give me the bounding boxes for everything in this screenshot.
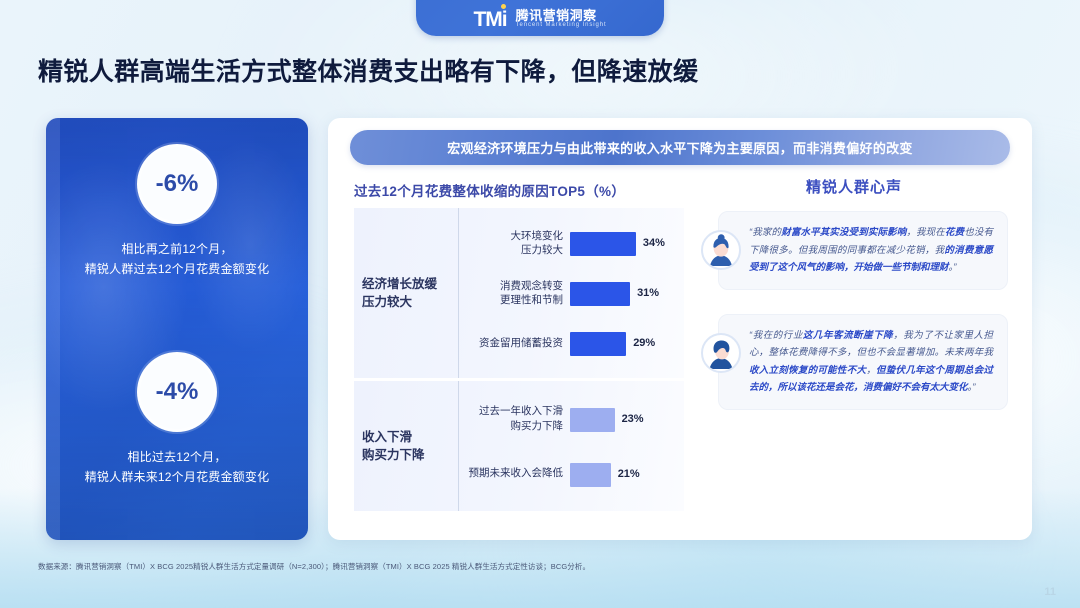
slide-root: TMi 腾讯营销洞察 Tencent Marketing Insight 精锐人…	[0, 0, 1080, 608]
bar-value-label: 31%	[637, 287, 659, 299]
bar-category-label: 预期未来收入会降低	[458, 466, 570, 480]
male-avatar	[701, 333, 741, 373]
bar-fill	[570, 332, 626, 356]
chart-group-label: 收入下滑 购买力下降	[354, 381, 458, 511]
bar-value-label: 23%	[622, 413, 644, 425]
logo-mark: TMi	[473, 9, 506, 30]
bar-track: 21%	[570, 459, 684, 489]
bar-track: 29%	[570, 328, 684, 358]
bar-row: 消费观念转变 更理性和节制 31%	[458, 278, 684, 308]
bar-fill	[570, 463, 611, 487]
group-label-line1: 收入下滑	[362, 428, 425, 446]
group-label-line2: 压力较大	[362, 293, 437, 311]
quotes-column: 精锐人群心声 “我家的财富水平其实没受到实际影响，我现在花费也没有下降很多。但我…	[700, 176, 1008, 524]
bar-fill	[570, 282, 630, 306]
bar-label-line: 购买力下降	[458, 419, 563, 433]
stat-caption: 相比过去12个月， 精锐人群未来12个月花费金额变化	[85, 448, 270, 488]
chart-title: 过去12个月花费整体收缩的原因TOP5（%）	[354, 180, 625, 200]
bar-value-label: 34%	[643, 237, 665, 249]
logo-text-block: 腾讯营销洞察 Tencent Marketing Insight	[516, 9, 607, 30]
bar-value-label: 29%	[633, 337, 655, 349]
bar-row: 预期未来收入会降低 21%	[458, 459, 684, 489]
quote-text: “我家的财富水平其实没受到实际影响，我现在花费也没有下降很多。但我周围的同事都在…	[749, 224, 993, 277]
logo-dot-icon	[501, 4, 506, 9]
chart-group-label: 经济增长放缓 压力较大	[354, 208, 458, 378]
bar-category-label: 消费观念转变 更理性和节制	[458, 279, 570, 307]
left-stats-panel: -6% 相比再之前12个月， 精锐人群过去12个月花费金额变化 -4% 相比过去…	[46, 118, 308, 540]
bar-value-label: 21%	[618, 468, 640, 480]
main-content-card: 宏观经济环境压力与由此带来的收入水平下降为主要原因，而非消费偏好的改变 过去12…	[328, 118, 1032, 540]
stat-block-past: -6% 相比再之前12个月， 精锐人群过去12个月花费金额变化	[46, 144, 308, 280]
chart-group-income: 收入下滑 购买力下降 过去一年收入下滑 购买力下降 23%	[354, 381, 684, 511]
chart-group-bars: 大环境变化 压力较大 34% 消费观念转变 更理性和节制	[458, 208, 684, 378]
group-label-line1: 经济增长放缓	[362, 275, 437, 293]
page-title: 精锐人群高端生活方式整体消费支出略有下降，但降速放缓	[38, 52, 698, 88]
logo-mark-text: TMi	[473, 8, 506, 31]
stat-caption: 相比再之前12个月， 精锐人群过去12个月花费金额变化	[85, 240, 270, 280]
quote-text: “我在的行业这几年客流断崖下降，我为了不让家里人担心，整体花费降得不多，但也不会…	[749, 327, 993, 397]
bar-row: 资金留用储蓄投资 29%	[458, 328, 684, 358]
tmi-logo: TMi 腾讯营销洞察 Tencent Marketing Insight	[416, 0, 664, 36]
chart-group-economic: 经济增长放缓 压力较大 大环境变化 压力较大 34%	[354, 208, 684, 378]
bar-row: 大环境变化 压力较大 34%	[458, 228, 684, 258]
bar-fill	[570, 408, 615, 432]
page-number: 11	[1044, 586, 1056, 598]
reasons-bar-chart: 经济增长放缓 压力较大 大环境变化 压力较大 34%	[354, 208, 684, 516]
stat-value-circle: -4%	[137, 352, 217, 432]
bar-label-line: 资金留用储蓄投资	[458, 336, 563, 350]
stat-caption-line2: 精锐人群过去12个月花费金额变化	[85, 260, 270, 280]
stat-block-future: -4% 相比过去12个月， 精锐人群未来12个月花费金额变化	[46, 352, 308, 488]
stat-caption-line1: 相比再之前12个月，	[85, 240, 270, 260]
logo-en-name: Tencent Marketing Insight	[516, 22, 607, 30]
group-label-line2: 购买力下降	[362, 446, 425, 464]
female-avatar	[701, 230, 741, 270]
bar-fill	[570, 232, 636, 256]
bar-label-line: 压力较大	[458, 243, 563, 257]
bar-label-line: 过去一年收入下滑	[458, 404, 563, 418]
quote-card: “我家的财富水平其实没受到实际影响，我现在花费也没有下降很多。但我周围的同事都在…	[718, 211, 1008, 290]
bar-track: 23%	[570, 404, 684, 434]
footnote-source: 数据来源：腾讯营销洞察（TMI）X BCG 2025精锐人群生活方式定量调研（N…	[38, 561, 590, 572]
insight-banner: 宏观经济环境压力与由此带来的收入水平下降为主要原因，而非消费偏好的改变	[350, 130, 1010, 165]
bar-label-line: 消费观念转变	[458, 279, 563, 293]
stat-value-circle: -6%	[137, 144, 217, 224]
stat-caption-line1: 相比过去12个月，	[85, 448, 270, 468]
bar-category-label: 过去一年收入下滑 购买力下降	[458, 404, 570, 432]
quote-card: “我在的行业这几年客流断崖下降，我为了不让家里人担心，整体花费降得不多，但也不会…	[718, 314, 1008, 410]
chart-group-bars: 过去一年收入下滑 购买力下降 23% 预期未来收入会降低	[458, 381, 684, 511]
bar-label-line: 预期未来收入会降低	[458, 466, 563, 480]
quotes-title: 精锐人群心声	[700, 176, 1008, 197]
bar-category-label: 资金留用储蓄投资	[458, 336, 570, 350]
bar-label-line: 大环境变化	[458, 229, 563, 243]
bar-track: 31%	[570, 278, 684, 308]
bar-track: 34%	[570, 228, 684, 258]
logo-cn-name: 腾讯营销洞察	[516, 9, 607, 23]
bar-category-label: 大环境变化 压力较大	[458, 229, 570, 257]
bar-label-line: 更理性和节制	[458, 293, 563, 307]
bar-row: 过去一年收入下滑 购买力下降 23%	[458, 404, 684, 434]
stat-caption-line2: 精锐人群未来12个月花费金额变化	[85, 468, 270, 488]
